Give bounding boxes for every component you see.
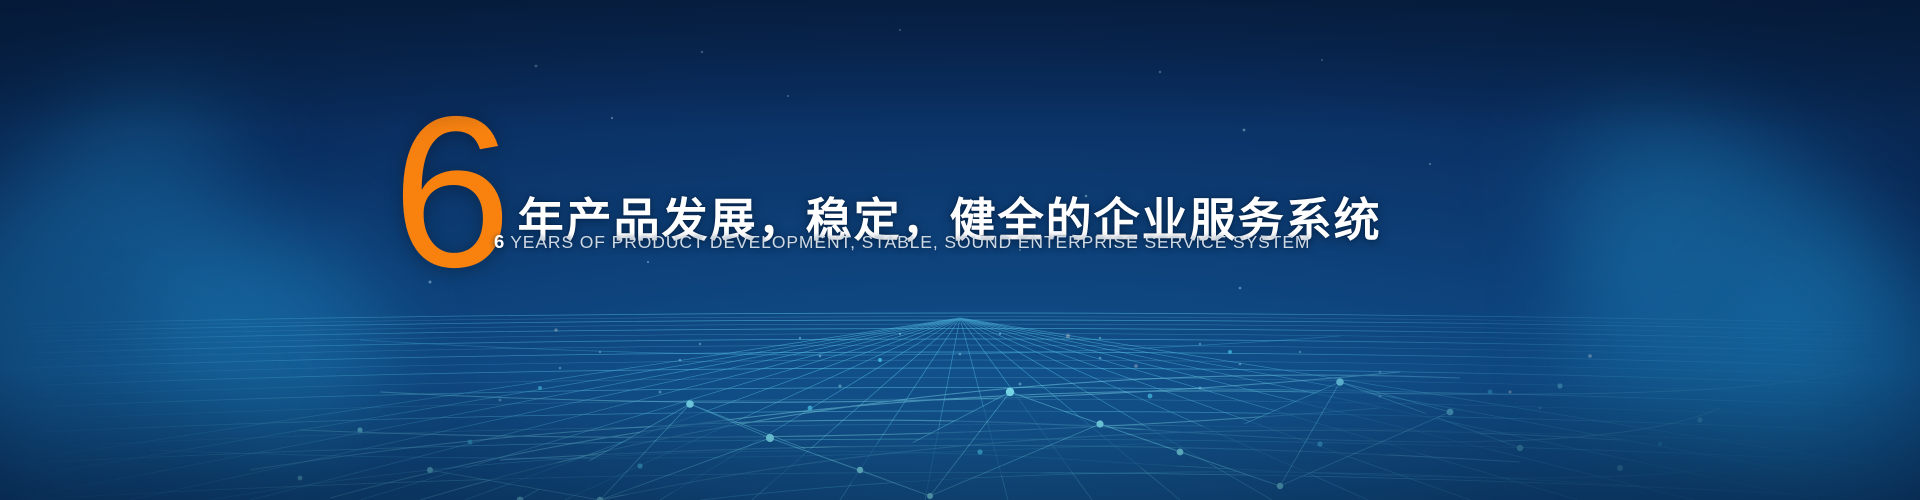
hero-banner: 6 年产品发展，稳定，健全的企业服务系统 6YEARS OF PRODUCT D…: [0, 0, 1920, 500]
background-vignette: [0, 0, 1920, 500]
